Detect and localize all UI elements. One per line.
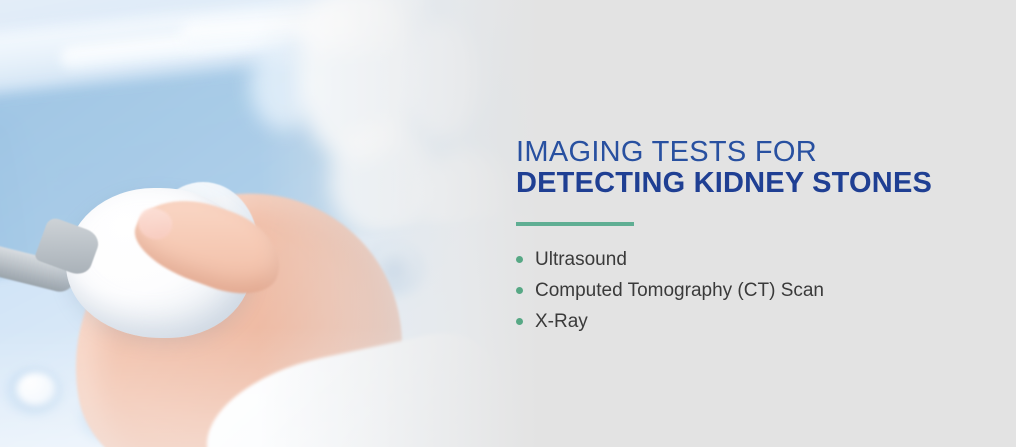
green-divider — [516, 222, 634, 226]
imaging-tests-banner: IMAGING TESTS FOR DETECTING KIDNEY STONE… — [0, 0, 1016, 447]
list-item: Ultrasound — [516, 244, 976, 275]
list-item: X-Ray — [516, 306, 976, 337]
ultrasound-photo — [0, 0, 560, 447]
imaging-tests-list: Ultrasound Computed Tomography (CT) Scan… — [516, 244, 976, 337]
bullet-dot-icon — [516, 318, 523, 325]
photo-gradient-fade — [0, 0, 560, 447]
banner-content: IMAGING TESTS FOR DETECTING KIDNEY STONE… — [516, 137, 976, 337]
headline-line-1: IMAGING TESTS FOR — [516, 137, 976, 167]
headline-line-2: DETECTING KIDNEY STONES — [516, 167, 976, 199]
list-item: Computed Tomography (CT) Scan — [516, 275, 976, 306]
list-item-label: X-Ray — [535, 311, 588, 332]
bullet-dot-icon — [516, 256, 523, 263]
list-item-label: Computed Tomography (CT) Scan — [535, 280, 824, 301]
list-item-label: Ultrasound — [535, 249, 627, 270]
bullet-dot-icon — [516, 287, 523, 294]
